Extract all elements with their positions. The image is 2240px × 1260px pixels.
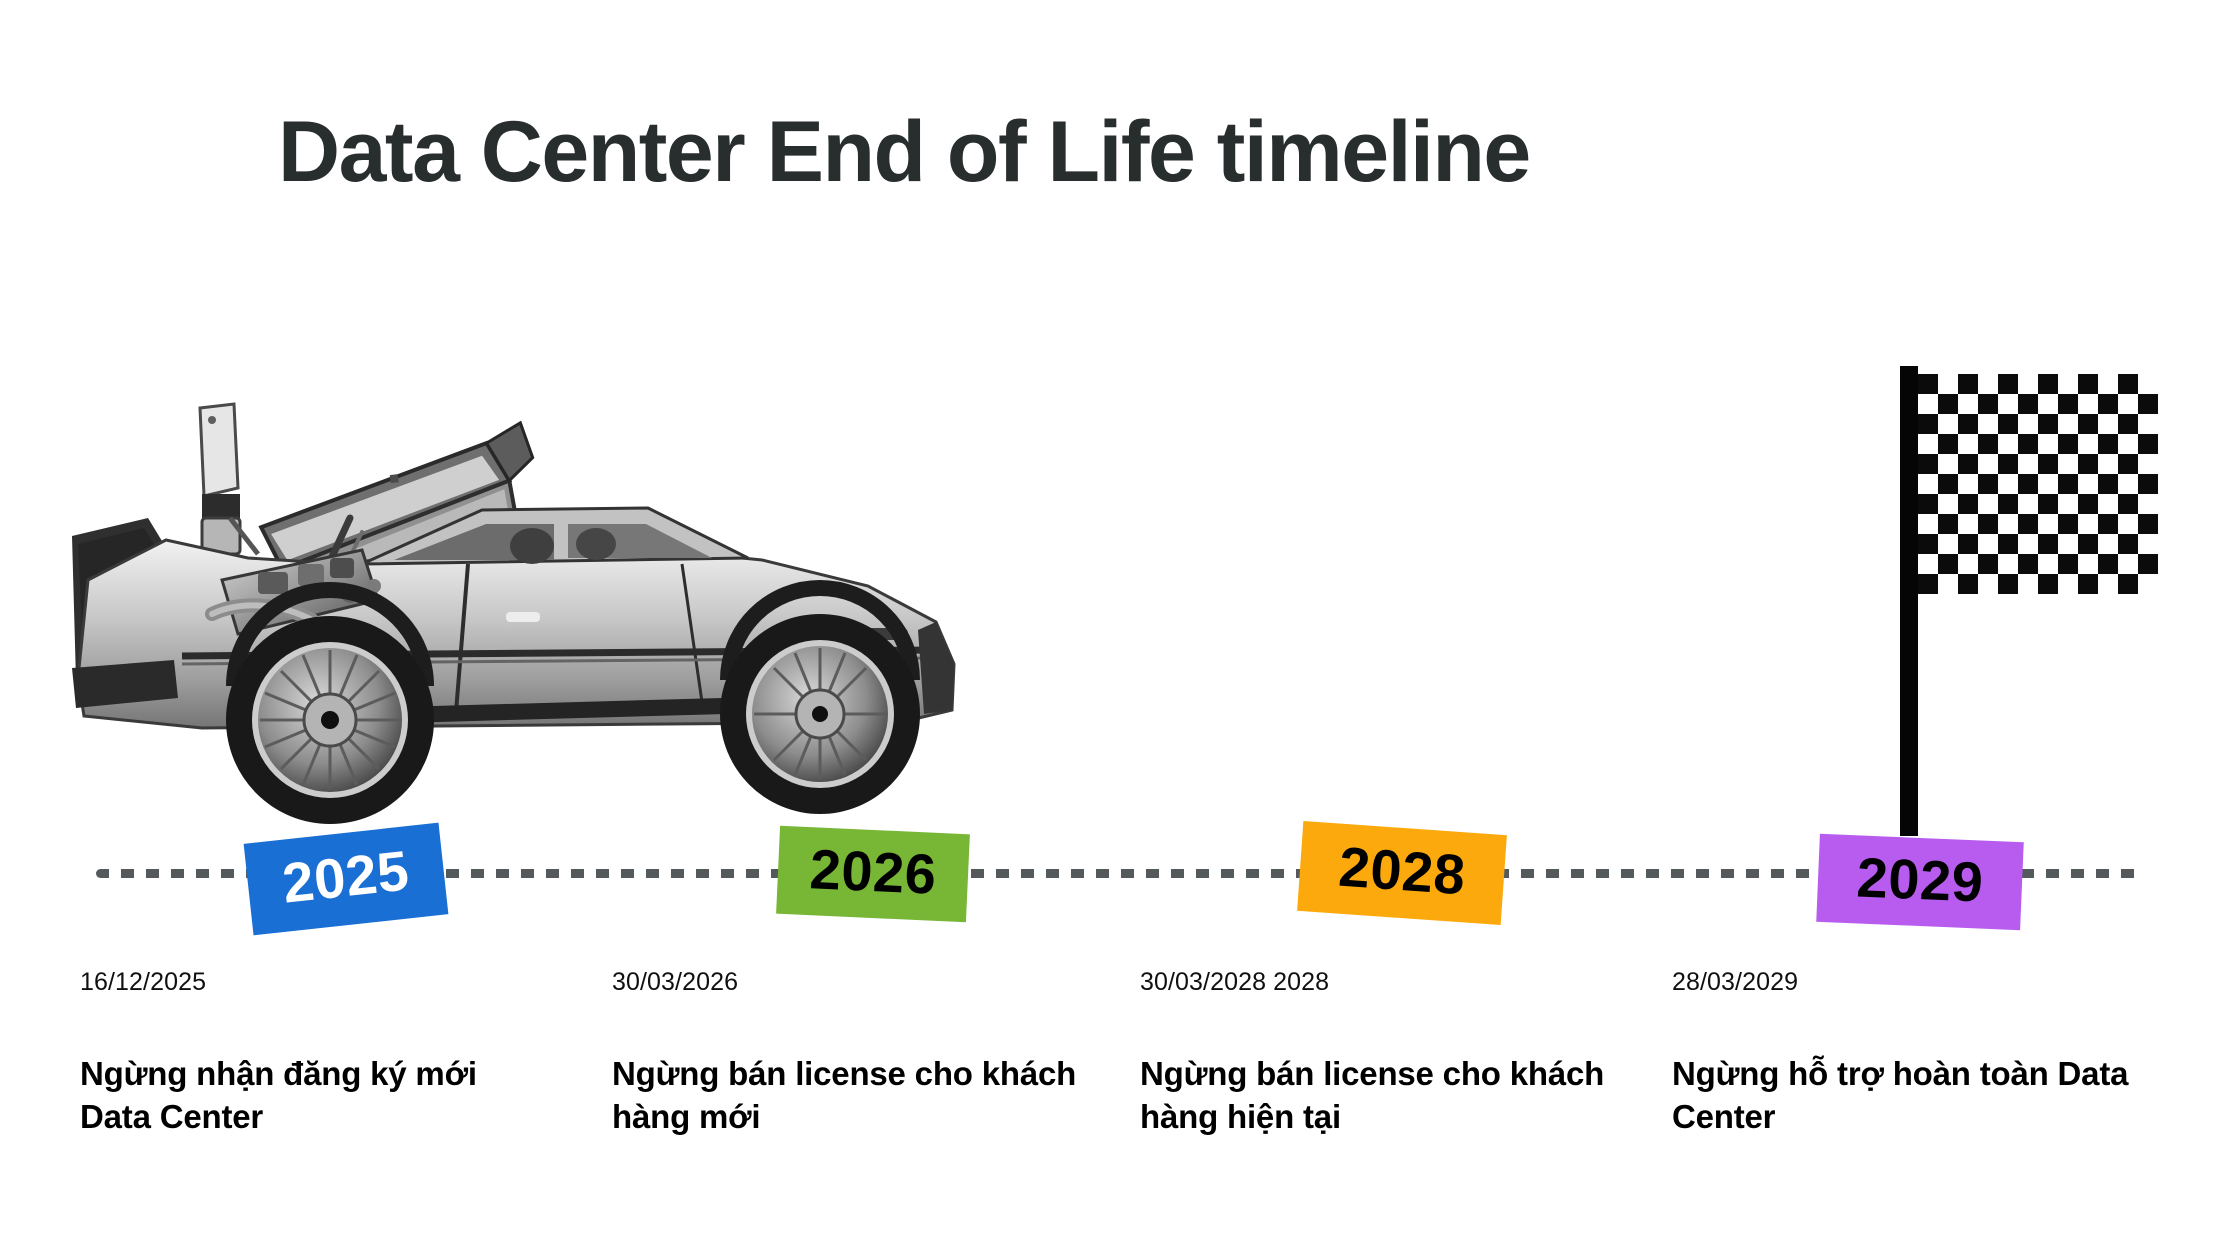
- milestone-2025: 16/12/2025 Ngừng nhận đăng ký mới Data C…: [80, 968, 550, 1139]
- year-badge-2028[interactable]: 2028: [1297, 821, 1507, 925]
- milestone-date: 30/03/2028 2028: [1140, 968, 1630, 997]
- milestone-date: 16/12/2025: [80, 968, 550, 997]
- flag-cloth: [1918, 374, 2158, 594]
- delorean-car-icon: [62, 368, 1022, 848]
- milestone-2028: 30/03/2028 2028 Ngừng bán license cho kh…: [1140, 968, 1630, 1139]
- milestone-2026: 30/03/2026 Ngừng bán license cho khách h…: [612, 968, 1082, 1139]
- slide-canvas: Data Center End of Life timeline: [0, 0, 2240, 1260]
- year-badge-2026[interactable]: 2026: [776, 826, 970, 923]
- milestone-description: Ngừng bán license cho khách hàng mới: [612, 1053, 1082, 1139]
- year-badge-2029[interactable]: 2029: [1816, 834, 2024, 930]
- milestone-description: Ngừng hỗ trợ hoàn toàn Data Center: [1672, 1053, 2172, 1139]
- flag-pole: [1900, 366, 1918, 836]
- delorean-car-illustration: [62, 368, 1022, 848]
- checkered-finish-flag: [1894, 366, 2164, 836]
- checkered-flag-icon: [1894, 366, 2164, 836]
- milestone-date: 28/03/2029: [1672, 968, 2172, 997]
- year-badge-2025[interactable]: 2025: [244, 823, 449, 936]
- page-title: Data Center End of Life timeline: [278, 104, 1978, 200]
- milestone-description: Ngừng bán license cho khách hàng hiện tạ…: [1140, 1053, 1630, 1139]
- milestone-date: 30/03/2026: [612, 968, 1082, 997]
- milestone-description: Ngừng nhận đăng ký mới Data Center: [80, 1053, 550, 1139]
- milestone-2029: 28/03/2029 Ngừng hỗ trợ hoàn toàn Data C…: [1672, 968, 2172, 1139]
